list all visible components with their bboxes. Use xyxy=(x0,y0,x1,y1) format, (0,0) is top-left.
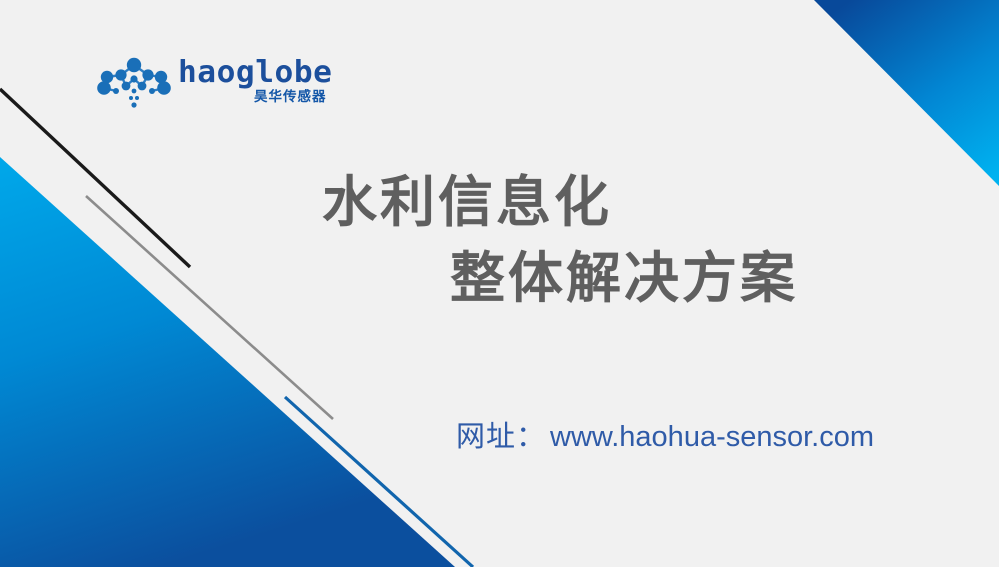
page-title: 水利信息化 整体解决方案 xyxy=(300,165,920,317)
logo-subtitle: 昊华传感器 xyxy=(254,90,327,105)
network-dots-logo-icon xyxy=(96,55,172,113)
title-line-2: 整体解决方案 xyxy=(300,241,920,317)
title-line-1: 水利信息化 xyxy=(300,165,920,241)
logo-wordmark: haoglobe xyxy=(178,57,332,89)
website-url: 网址： www.haohua-sensor.com xyxy=(456,420,874,455)
url-label: 网址： xyxy=(456,420,546,455)
url-value: www.haohua-sensor.com xyxy=(550,420,874,455)
logo-text: haoglobe 昊华传感器 xyxy=(178,55,327,104)
title-slide: haoglobe 昊华传感器 水利信息化 整体解决方案 网址： www.haoh… xyxy=(0,0,999,567)
company-logo: haoglobe 昊华传感器 xyxy=(96,55,316,117)
